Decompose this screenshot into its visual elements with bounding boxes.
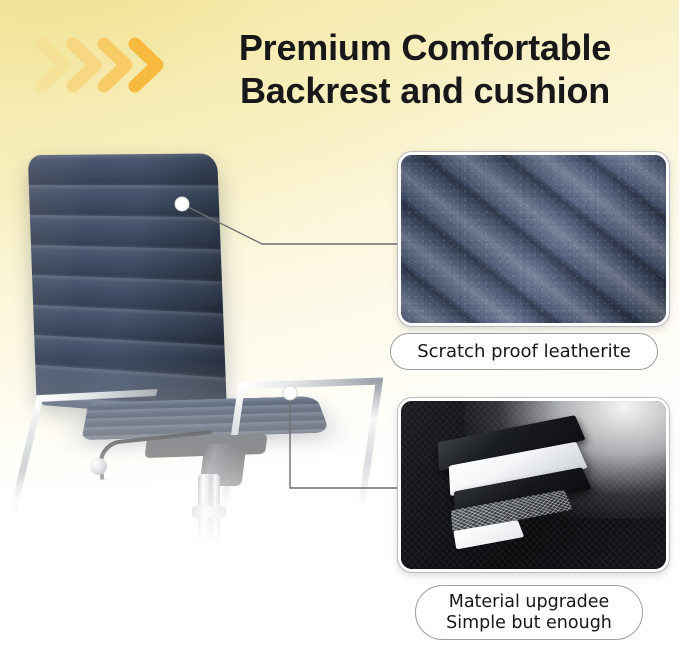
page-title: Premium Comfortable Backrest and cushion <box>186 26 664 112</box>
chevron-4-icon <box>125 36 171 94</box>
leather-detail-card <box>398 152 669 326</box>
title-line-2: Backrest and cushion <box>186 69 664 112</box>
material-caption-line-2: Simple but enough <box>446 613 612 634</box>
title-line-1: Premium Comfortable <box>186 26 664 69</box>
header: Premium Comfortable Backrest and cushion <box>0 0 679 130</box>
material-caption-line-1: Material upgradee <box>449 592 610 613</box>
leather-grain-texture <box>401 155 666 323</box>
leather-caption-pill: Scratch proof leatherite <box>390 333 658 370</box>
material-caption-pill: Material upgradee Simple but enough <box>415 585 643 640</box>
leather-caption-text: Scratch proof leatherite <box>417 341 631 362</box>
material-detail-card <box>398 398 669 572</box>
chevron-group <box>32 36 180 94</box>
product-feature-poster: Premium Comfortable Backrest and cushion <box>0 0 679 659</box>
